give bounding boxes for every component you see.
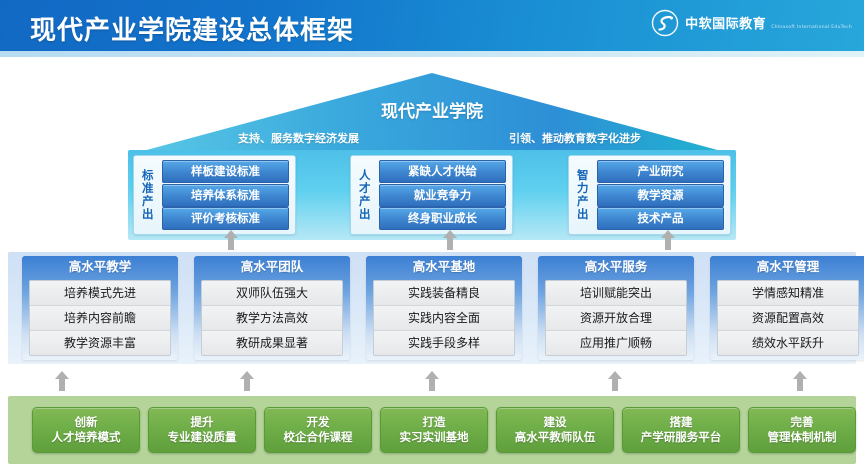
card-row[interactable]: 培训赋能突出 (546, 281, 686, 306)
action-verb: 创新 (75, 415, 98, 430)
header-accent-strip (0, 51, 864, 57)
pillar-item-list: 产业研究 教学资源 技术产品 (595, 156, 730, 234)
card-row-list: 培养模式先进 培养内容前瞻 教学资源丰富 (29, 280, 171, 356)
card-row[interactable]: 培养模式先进 (30, 281, 170, 306)
capability-cards-band: 高水平教学 培养模式先进 培养内容前瞻 教学资源丰富 高水平团队 双师队伍强大 … (8, 252, 856, 364)
pillar-item[interactable]: 就业竞争力 (379, 184, 506, 207)
action-develop-school-enterprise-courses[interactable]: 开发 校企合作课程 (264, 407, 372, 453)
brand-name-en: Chinasoft International EduTech (771, 25, 852, 30)
pillar-item-list: 紧缺人才供给 就业竞争力 终身职业成长 (377, 156, 512, 234)
pillar-label: 智力产出 (569, 156, 595, 234)
action-build-internship-base[interactable]: 打造 实习实训基地 (380, 407, 488, 453)
card-title: 高水平教学 (22, 256, 178, 278)
action-band: 创新 人才培养模式 提升 专业建设质量 开发 校企合作课程 打造 实习实训基地 … (8, 396, 856, 464)
pillar-talent-output[interactable]: 人才产出 紧缺人才供给 就业竞争力 终身职业成长 (350, 155, 513, 235)
card-high-level-management[interactable]: 高水平管理 学情感知精准 资源配置高效 绩效水平跃升 (710, 256, 864, 360)
card-title: 高水平服务 (538, 256, 694, 278)
card-row[interactable]: 实践手段多样 (374, 331, 514, 355)
page-title: 现代产业学院建设总体框架 (30, 10, 354, 47)
pillar-intellectual-output[interactable]: 智力产出 产业研究 教学资源 技术产品 (568, 155, 731, 235)
arrow-up-icon (55, 371, 69, 391)
card-high-level-base[interactable]: 高水平基地 实践装备精良 实践内容全面 实践手段多样 (366, 256, 522, 360)
action-verb: 搭建 (670, 415, 693, 430)
card-row-list: 实践装备精良 实践内容全面 实践手段多样 (373, 280, 515, 356)
card-row[interactable]: 学情感知精准 (718, 281, 858, 306)
roof-subtitle-right: 引领、推动教育数字化进步 (509, 130, 641, 146)
roof-shape: 现代产业学院 支持、服务数字经济发展 引领、推动教育数字化进步 (128, 73, 736, 155)
card-row[interactable]: 应用推广顺畅 (546, 331, 686, 355)
card-row[interactable]: 教研成果显著 (202, 331, 342, 355)
action-object: 实习实训基地 (400, 430, 469, 445)
card-high-level-service[interactable]: 高水平服务 培训赋能突出 资源开放合理 应用推广顺畅 (538, 256, 694, 360)
arrow-up-icon (425, 371, 439, 391)
arrow-up-icon (661, 230, 675, 250)
action-verb: 打造 (423, 415, 446, 430)
arrow-up-icon (608, 371, 622, 391)
pillar-item-list: 样板建设标准 培养体系标准 评价考核标准 (160, 156, 295, 234)
card-row[interactable]: 资源配置高效 (718, 306, 858, 331)
pillar-item[interactable]: 终身职业成长 (379, 207, 506, 230)
card-row-list: 学情感知精准 资源配置高效 绩效水平跃升 (717, 280, 859, 356)
action-verb: 建设 (544, 415, 567, 430)
pillar-label: 标准产出 (134, 156, 160, 234)
pillar-item[interactable]: 教学资源 (597, 184, 724, 207)
arrow-up-icon (240, 371, 254, 391)
action-object: 人才培养模式 (52, 430, 121, 445)
page-header: 现代产业学院建设总体框架 中软国际教育 Chinasoft Internatio… (0, 0, 864, 51)
pillar-label: 人才产出 (351, 156, 377, 234)
arrow-up-icon (224, 230, 238, 250)
pillar-item[interactable]: 紧缺人才供给 (379, 160, 506, 183)
roof-subtitle-left: 支持、服务数字经济发展 (238, 130, 359, 146)
action-verb: 提升 (191, 415, 214, 430)
pillar-item[interactable]: 评价考核标准 (162, 207, 289, 230)
card-row[interactable]: 实践装备精良 (374, 281, 514, 306)
action-improve-management-system[interactable]: 完善 管理体制机制 (748, 407, 856, 453)
card-row[interactable]: 教学方法高效 (202, 306, 342, 331)
arrow-up-icon (443, 230, 457, 250)
brand-text: 中软国际教育 Chinasoft International EduTech (685, 15, 852, 31)
action-build-industry-research-platform[interactable]: 搭建 产学研服务平台 (622, 407, 740, 453)
card-row[interactable]: 双师队伍强大 (202, 281, 342, 306)
card-title: 高水平管理 (710, 256, 864, 278)
pillar-item[interactable]: 技术产品 (597, 207, 724, 230)
action-object: 专业建设质量 (168, 430, 237, 445)
action-object: 高水平教师队伍 (515, 430, 596, 445)
action-object: 管理体制机制 (768, 430, 837, 445)
card-row-list: 双师队伍强大 教学方法高效 教研成果显著 (201, 280, 343, 356)
action-object: 产学研服务平台 (641, 430, 722, 445)
pillar-standard-output[interactable]: 标准产出 样板建设标准 培养体系标准 评价考核标准 (133, 155, 296, 235)
action-innovate-talent-model[interactable]: 创新 人才培养模式 (32, 407, 140, 453)
card-high-level-teaching[interactable]: 高水平教学 培养模式先进 培养内容前瞻 教学资源丰富 (22, 256, 178, 360)
swoosh-logo-icon (651, 9, 679, 37)
pillar-item[interactable]: 产业研究 (597, 160, 724, 183)
slide-canvas: 现代产业学院建设总体框架 中软国际教育 Chinasoft Internatio… (0, 0, 864, 471)
action-build-teacher-team[interactable]: 建设 高水平教师队伍 (496, 407, 614, 453)
action-improve-program-quality[interactable]: 提升 专业建设质量 (148, 407, 256, 453)
card-row-list: 培训赋能突出 资源开放合理 应用推广顺畅 (545, 280, 687, 356)
card-title: 高水平团队 (194, 256, 350, 278)
card-row[interactable]: 实践内容全面 (374, 306, 514, 331)
card-row[interactable]: 教学资源丰富 (30, 331, 170, 355)
arrow-up-icon (793, 371, 807, 391)
card-high-level-team[interactable]: 高水平团队 双师队伍强大 教学方法高效 教研成果显著 (194, 256, 350, 360)
action-verb: 开发 (307, 415, 330, 430)
pillars-band: 标准产出 样板建设标准 培养体系标准 评价考核标准 人才产出 紧缺人才供给 就业… (128, 150, 736, 240)
brand-logo: 中软国际教育 Chinasoft International EduTech (651, 9, 852, 37)
card-row[interactable]: 资源开放合理 (546, 306, 686, 331)
card-title: 高水平基地 (366, 256, 522, 278)
card-row[interactable]: 培养内容前瞻 (30, 306, 170, 331)
action-object: 校企合作课程 (284, 430, 353, 445)
card-row[interactable]: 绩效水平跃升 (718, 331, 858, 355)
brand-name-cn: 中软国际教育 (685, 17, 766, 32)
pillar-item[interactable]: 样板建设标准 (162, 160, 289, 183)
pillar-item[interactable]: 培养体系标准 (162, 184, 289, 207)
action-verb: 完善 (791, 415, 814, 430)
roof-title: 现代产业学院 (128, 97, 736, 122)
